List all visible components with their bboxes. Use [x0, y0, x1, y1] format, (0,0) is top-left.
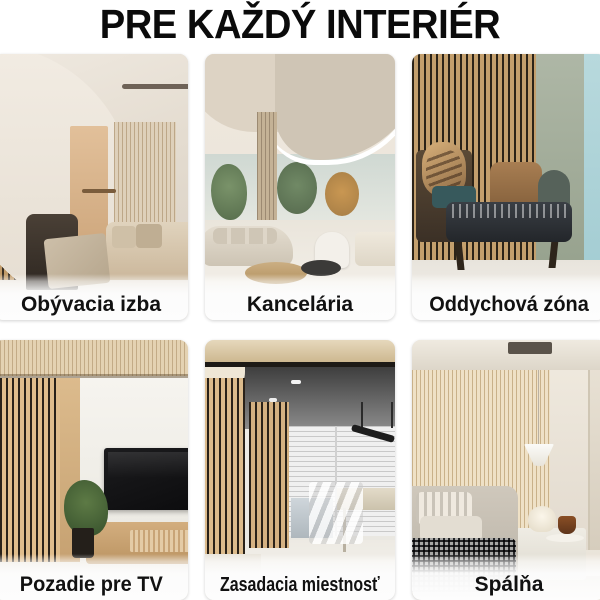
gallery-tile-tv-wall[interactable]: Pozadie pre TV [0, 340, 188, 600]
gallery-tile-bedroom[interactable]: Spálňa [412, 340, 600, 600]
promo-banner: PRE KAŽDÝ INTERIÉR Obývacia izba [0, 0, 600, 600]
tile-label-tv-wall: Pozadie pre TV [0, 554, 188, 600]
tile-label-living-room: Obývacia izba [0, 274, 188, 320]
gallery-tile-meeting-room[interactable]: Zasadacia miestnosť [205, 340, 395, 600]
tile-label-text: Kancelária [247, 294, 353, 315]
room-gallery-grid: Obývacia izba [0, 54, 600, 600]
tile-label-office: Kancelária [205, 274, 395, 320]
tile-label-text: Spálňa [475, 574, 544, 595]
tile-label-text: Pozadie pre TV [19, 574, 162, 595]
tile-label-text: Oddychová zóna [429, 294, 589, 315]
tile-label-text: Obývacia izba [21, 294, 161, 315]
gallery-tile-office[interactable]: Kancelária [205, 54, 395, 320]
page-title: PRE KAŽDÝ INTERIÉR [21, 0, 579, 52]
gallery-tile-relax-zone[interactable]: Oddychová zóna [412, 54, 600, 320]
tile-label-meeting-room: Zasadacia miestnosť [205, 554, 395, 600]
tile-label-bedroom: Spálňa [412, 554, 600, 600]
tile-label-relax-zone: Oddychová zóna [412, 274, 600, 320]
tile-label-text: Zasadacia miestnosť [220, 575, 380, 595]
gallery-tile-living-room[interactable]: Obývacia izba [0, 54, 188, 320]
